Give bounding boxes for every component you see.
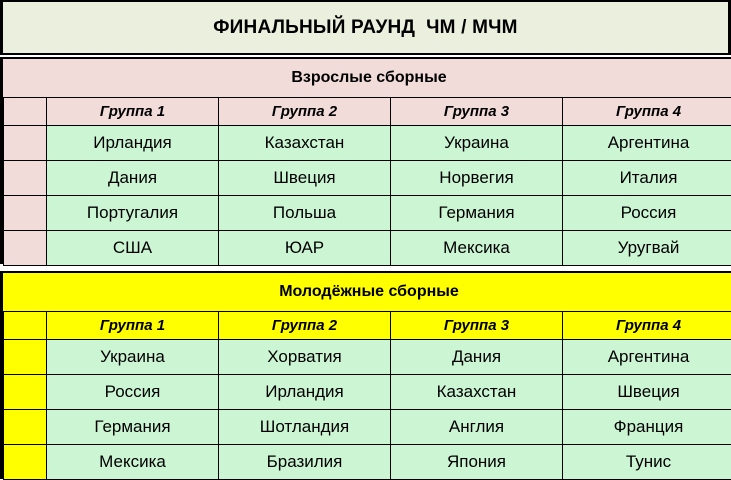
youth-group-header-3: Группа 3: [391, 312, 563, 340]
adults-row-4-spacer: [4, 231, 47, 266]
youth-team-r4c4: Тунис: [563, 445, 731, 480]
table-row: Мексика Бразилия Япония Тунис: [4, 445, 731, 480]
youth-team-r4c3: Япония: [391, 445, 563, 480]
table-row: США ЮАР Мексика Уругвай: [4, 231, 731, 266]
youth-row-4-spacer: [4, 445, 47, 480]
youth-row-2-spacer: [4, 375, 47, 410]
adults-team-r1c3: Украина: [391, 126, 563, 161]
adults-team-r1c1: Ирландия: [47, 126, 219, 161]
youth-team-r4c2: Бразилия: [219, 445, 391, 480]
adults-team-r2c1: Дания: [47, 161, 219, 196]
youth-group-header-row: Группа 1 Группа 2 Группа 3 Группа 4: [4, 312, 731, 340]
youth-row-1-spacer: [4, 340, 47, 375]
youth-team-r1c3: Дания: [391, 340, 563, 375]
youth-group-header-1: Группа 1: [47, 312, 219, 340]
adults-team-r2c4: Италия: [563, 161, 731, 196]
youth-team-r4c1: Мексика: [47, 445, 219, 480]
section-youth: Молодёжные сборные Группа 1 Группа 2 Гру…: [0, 271, 731, 479]
adults-spacer-cell: [4, 98, 47, 126]
adults-row-2-spacer: [4, 161, 47, 196]
adults-team-r4c3: Мексика: [391, 231, 563, 266]
youth-group-header-2: Группа 2: [219, 312, 391, 340]
adults-row-1-spacer: [4, 126, 47, 161]
adults-heading-row: Взрослые сборные: [4, 59, 731, 98]
adults-group-header-4: Группа 4: [563, 98, 731, 126]
youth-spacer-cell: [4, 312, 47, 340]
adults-heading: Взрослые сборные: [4, 59, 731, 98]
tournament-final-round-table: ФИНАЛЬНЫЙ РАУНД ЧМ / МЧМ Взрослые сборны…: [0, 0, 731, 479]
table-row: Дания Швеция Норвегия Италия: [4, 161, 731, 196]
adults-group-header-1: Группа 1: [47, 98, 219, 126]
youth-team-r2c1: Россия: [47, 375, 219, 410]
youth-team-r3c1: Германия: [47, 410, 219, 445]
page-title: ФИНАЛЬНЫЙ РАУНД ЧМ / МЧМ: [213, 17, 517, 39]
table-row: Россия Ирландия Казахстан Швеция: [4, 375, 731, 410]
youth-team-r3c2: Шотландия: [219, 410, 391, 445]
youth-team-r1c2: Хорватия: [219, 340, 391, 375]
youth-team-r2c2: Ирландия: [219, 375, 391, 410]
adults-group-header-row: Группа 1 Группа 2 Группа 3 Группа 4: [4, 98, 731, 126]
page-title-banner: ФИНАЛЬНЫЙ РАУНД ЧМ / МЧМ: [0, 0, 731, 55]
adults-grid: Взрослые сборные Группа 1 Группа 2 Групп…: [3, 59, 731, 266]
youth-team-r1c1: Украина: [47, 340, 219, 375]
adults-team-r4c1: США: [47, 231, 219, 266]
section-adults: Взрослые сборные Группа 1 Группа 2 Групп…: [0, 57, 731, 264]
adults-team-r3c4: Россия: [563, 196, 731, 231]
youth-heading: Молодёжные сборные: [4, 273, 731, 312]
youth-team-r2c3: Казахстан: [391, 375, 563, 410]
adults-team-r1c4: Аргентина: [563, 126, 731, 161]
adults-team-r2c2: Швеция: [219, 161, 391, 196]
youth-group-header-4: Группа 4: [563, 312, 731, 340]
youth-grid: Молодёжные сборные Группа 1 Группа 2 Гру…: [3, 273, 731, 480]
table-row: Португалия Польша Германия Россия: [4, 196, 731, 231]
youth-row-3-spacer: [4, 410, 47, 445]
youth-team-r3c4: Франция: [563, 410, 731, 445]
adults-team-r2c3: Норвегия: [391, 161, 563, 196]
adults-row-3-spacer: [4, 196, 47, 231]
youth-team-r2c4: Швеция: [563, 375, 731, 410]
adults-team-r3c3: Германия: [391, 196, 563, 231]
adults-team-r4c2: ЮАР: [219, 231, 391, 266]
youth-team-r3c3: Англия: [391, 410, 563, 445]
adults-team-r1c2: Казахстан: [219, 126, 391, 161]
table-row: Германия Шотландия Англия Франция: [4, 410, 731, 445]
table-row: Ирландия Казахстан Украина Аргентина: [4, 126, 731, 161]
youth-heading-row: Молодёжные сборные: [4, 273, 731, 312]
adults-team-r4c4: Уругвай: [563, 231, 731, 266]
adults-team-r3c2: Польша: [219, 196, 391, 231]
adults-group-header-2: Группа 2: [219, 98, 391, 126]
adults-group-header-3: Группа 3: [391, 98, 563, 126]
table-row: Украина Хорватия Дания Аргентина: [4, 340, 731, 375]
adults-team-r3c1: Португалия: [47, 196, 219, 231]
youth-team-r1c4: Аргентина: [563, 340, 731, 375]
